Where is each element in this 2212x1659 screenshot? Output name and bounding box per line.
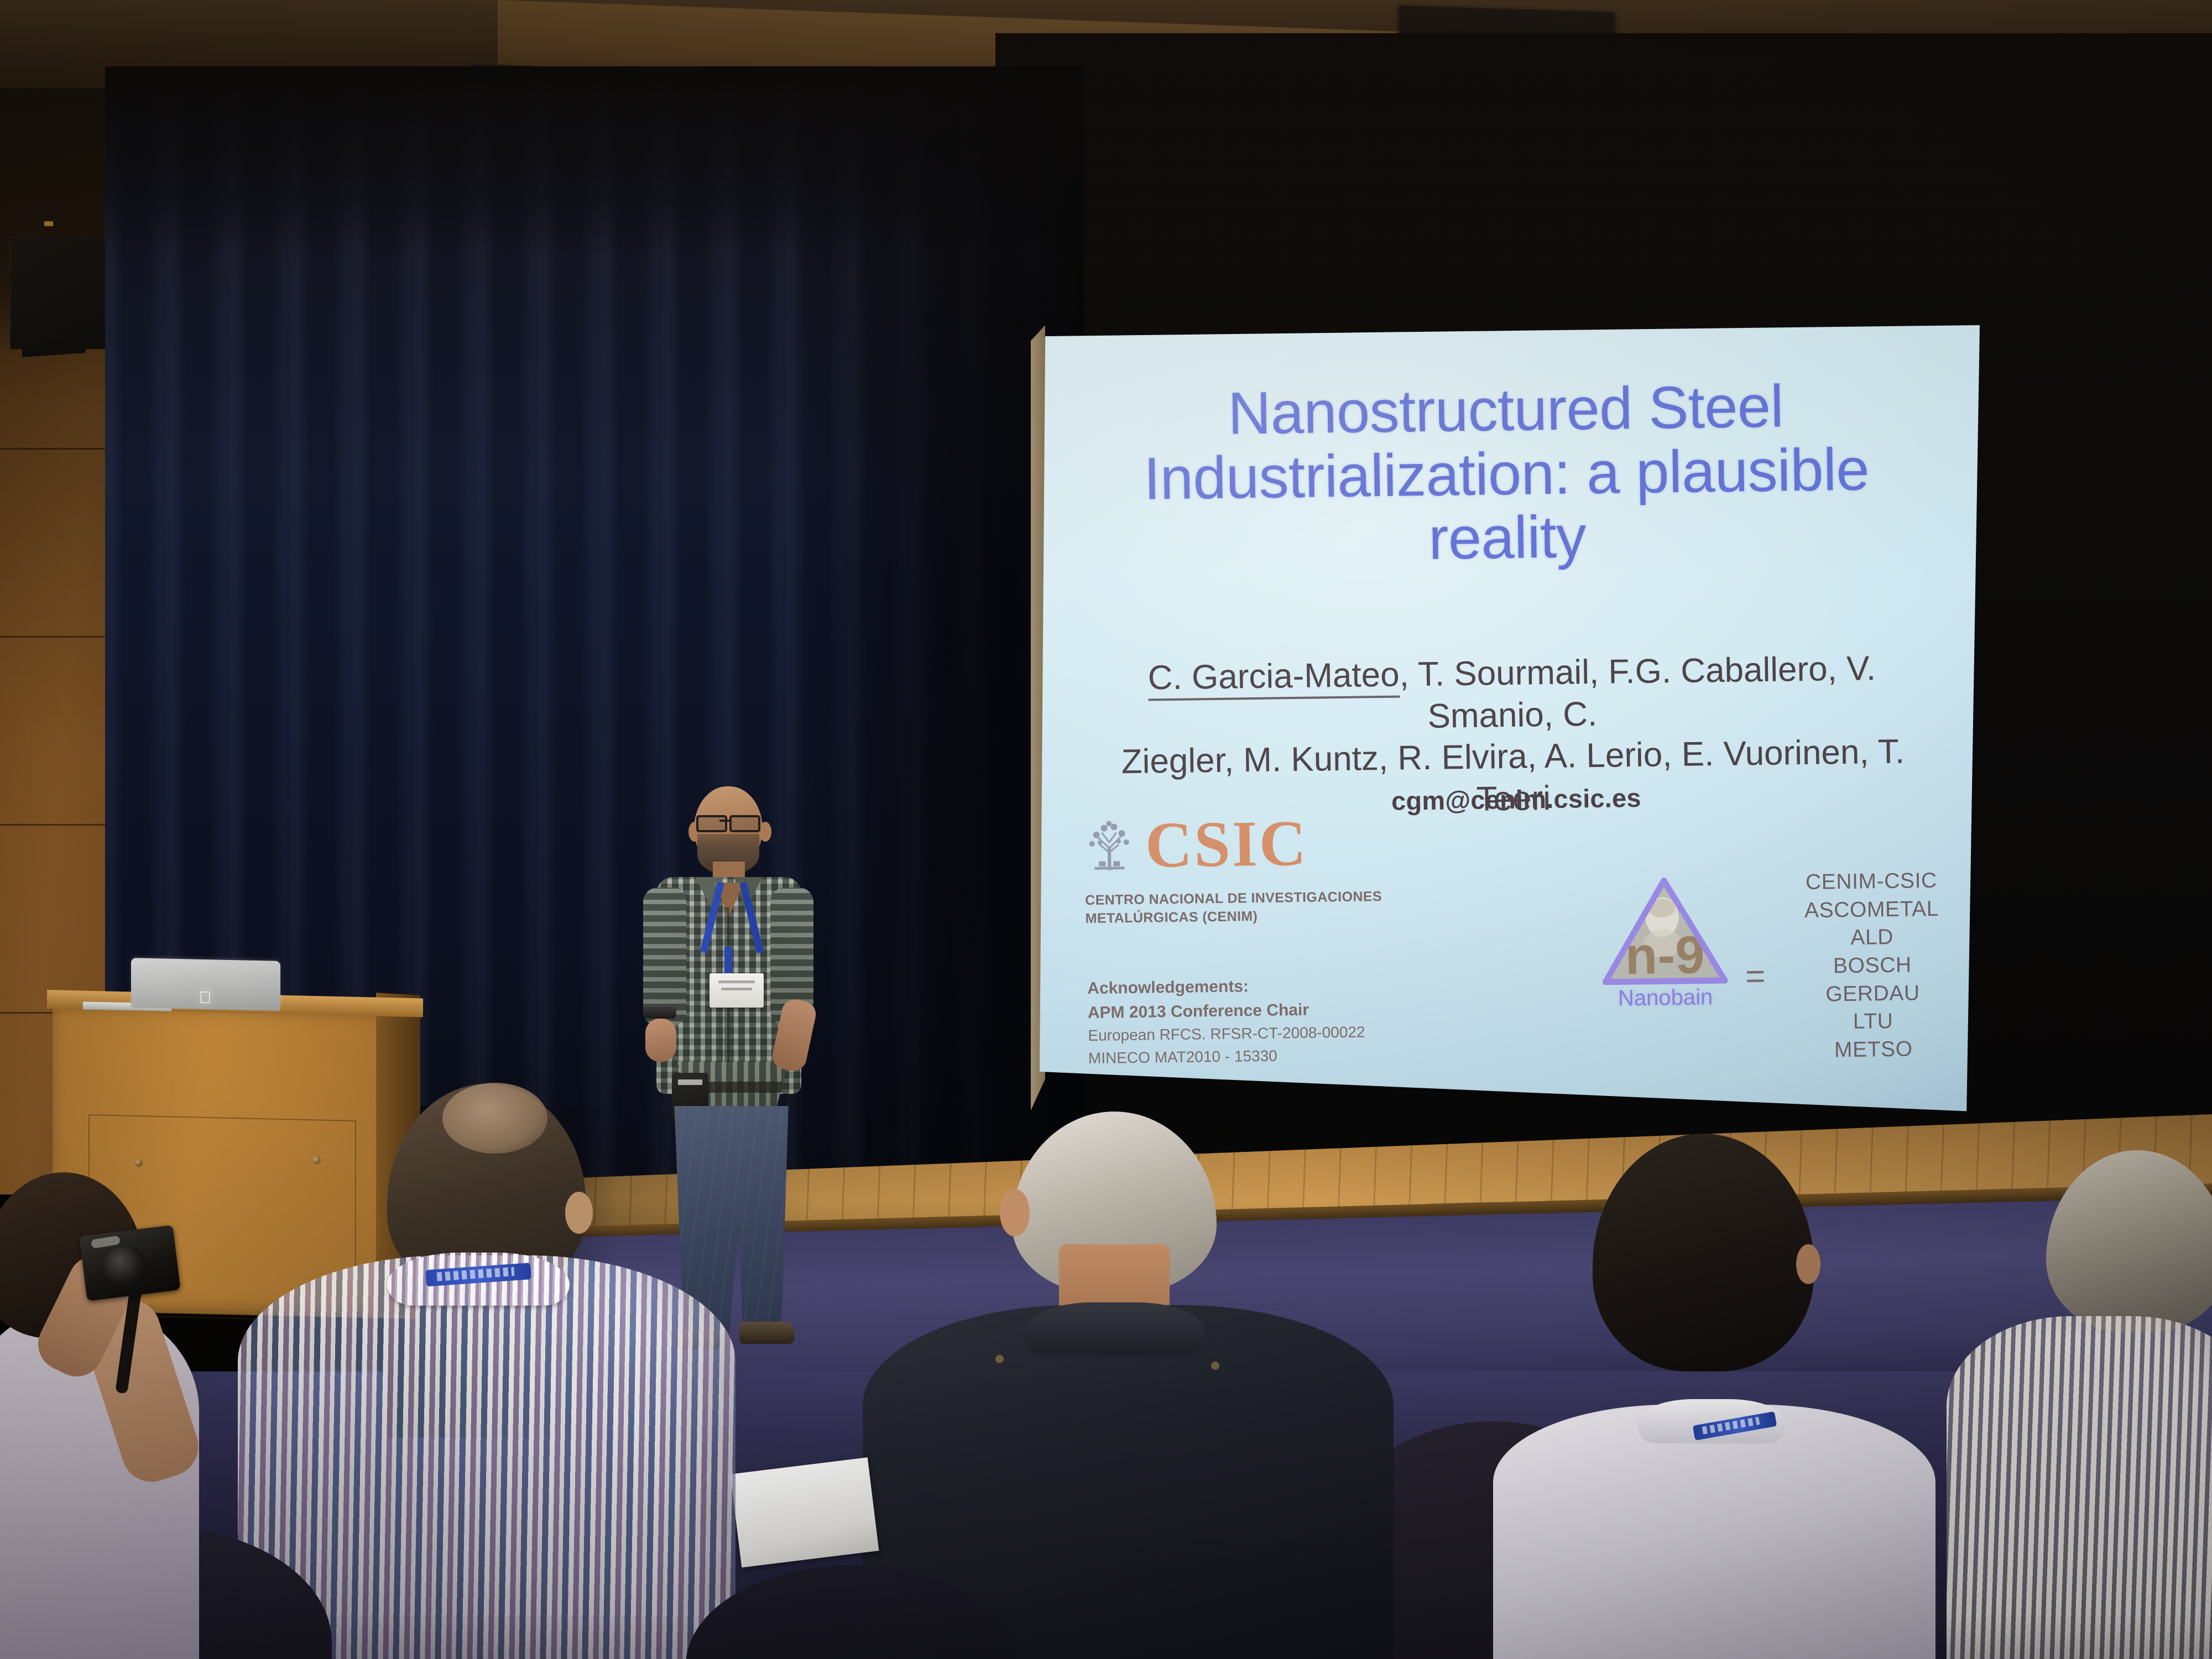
partner-list: CENIM-CSIC ASCOMETAL ALD BOSCH GERDAU LT…: [1788, 867, 1957, 1066]
name-badge: [709, 973, 764, 1008]
slide-title: Nanostructured Steel Industrialization: …: [1074, 372, 1939, 575]
speaker-led-icon: [44, 221, 53, 226]
eyeglasses-bridge-icon: [719, 820, 729, 822]
partner-item: METSO: [1791, 1035, 1957, 1066]
wall-speaker: [10, 238, 116, 349]
attendee-striped-shirt-scalp: [442, 1083, 547, 1154]
nanobain-logo: n-9 Nanobain: [1595, 875, 1735, 1011]
slide-title-line-2: Industrialization: a plausible: [1074, 436, 1938, 511]
acknowledgement-grant-es: MINECO MAT2010 - 15330: [1088, 1043, 1442, 1070]
partner-item: ALD: [1789, 923, 1955, 953]
eyeglasses-lens-right-icon: [729, 815, 760, 832]
csic-wordmark: CSIC: [1145, 815, 1308, 874]
lanyard-strap-center: [724, 947, 732, 975]
attendee-pinstripe-body: [1947, 1316, 2212, 1659]
csic-logo-block: CSIC CENTRO NACIONAL DE INVESTIGACIONES …: [1084, 813, 1395, 928]
attendee-striped-shirt-ear: [565, 1192, 593, 1234]
notepad: [731, 1457, 879, 1567]
csic-subtitle: CENTRO NACIONAL DE INVESTIGACIONES METAL…: [1085, 888, 1395, 928]
equals-sign: =: [1745, 957, 1766, 996]
projection-screen: Nanostructured Steel Industrialization: …: [1040, 325, 1980, 1121]
wristwatch: [643, 1006, 676, 1019]
attendee-grey-haired-collar: [1023, 1302, 1206, 1355]
apple-logo-icon: : [198, 990, 212, 1006]
presenter-ear-right: [759, 822, 771, 842]
slide-title-line-3: reality: [1076, 500, 1939, 575]
presenter-hand-left: [645, 1019, 676, 1062]
attendee-dark-haired-ear: [1796, 1244, 1820, 1284]
partner-item: CENIM-CSIC: [1788, 867, 1955, 898]
svg-text:n-9: n-9: [1625, 925, 1705, 985]
presenter: [611, 774, 843, 1360]
presenter-shoe-right: [739, 1322, 795, 1344]
contact-email: cgm@cenim.csic.es: [1279, 781, 1755, 817]
acknowledgements-block: Acknowledgements: APM 2013 Conference Ch…: [1087, 972, 1442, 1070]
partner-item: GERDAU: [1790, 979, 1956, 1009]
attendee-grey-haired-ear: [1000, 1189, 1030, 1237]
presentation-slide: Nanostructured Steel Industrialization: …: [1035, 319, 1985, 1122]
partner-item: BOSCH: [1790, 951, 1956, 982]
partner-item: LTU: [1790, 1007, 1957, 1037]
nanobain-triangle-icon: n-9: [1601, 875, 1729, 985]
csic-tree-icon: [1084, 818, 1135, 874]
csic-subtitle-line-2: METALÚRGICAS (CENIM): [1085, 906, 1395, 928]
partner-item: ASCOMETAL: [1788, 895, 1955, 925]
author-line-1-rest: , T. Sourmail, F.G. Caballero, V. Smanio…: [1399, 649, 1876, 735]
eyeglasses-lens-left-icon: [696, 815, 727, 832]
lectern-screw: [134, 1159, 143, 1167]
screen-surface: Nanostructured Steel Industrialization: …: [1040, 325, 1980, 1116]
conference-photo-scene: Nanostructured Steel Industrialization: …: [0, 0, 2212, 1659]
nanobain-label: Nanobain: [1596, 985, 1735, 1011]
presenting-author-name: C. Garcia-Mateo: [1147, 656, 1400, 701]
author-line-1: C. Garcia-Mateo, T. Sourmail, F.G. Cabal…: [1091, 647, 1933, 742]
shirt-button: [1211, 1361, 1219, 1370]
shirt-button: [995, 1355, 1004, 1363]
lectern-screw: [312, 1156, 321, 1164]
presenter-arm-left: [643, 888, 686, 1026]
